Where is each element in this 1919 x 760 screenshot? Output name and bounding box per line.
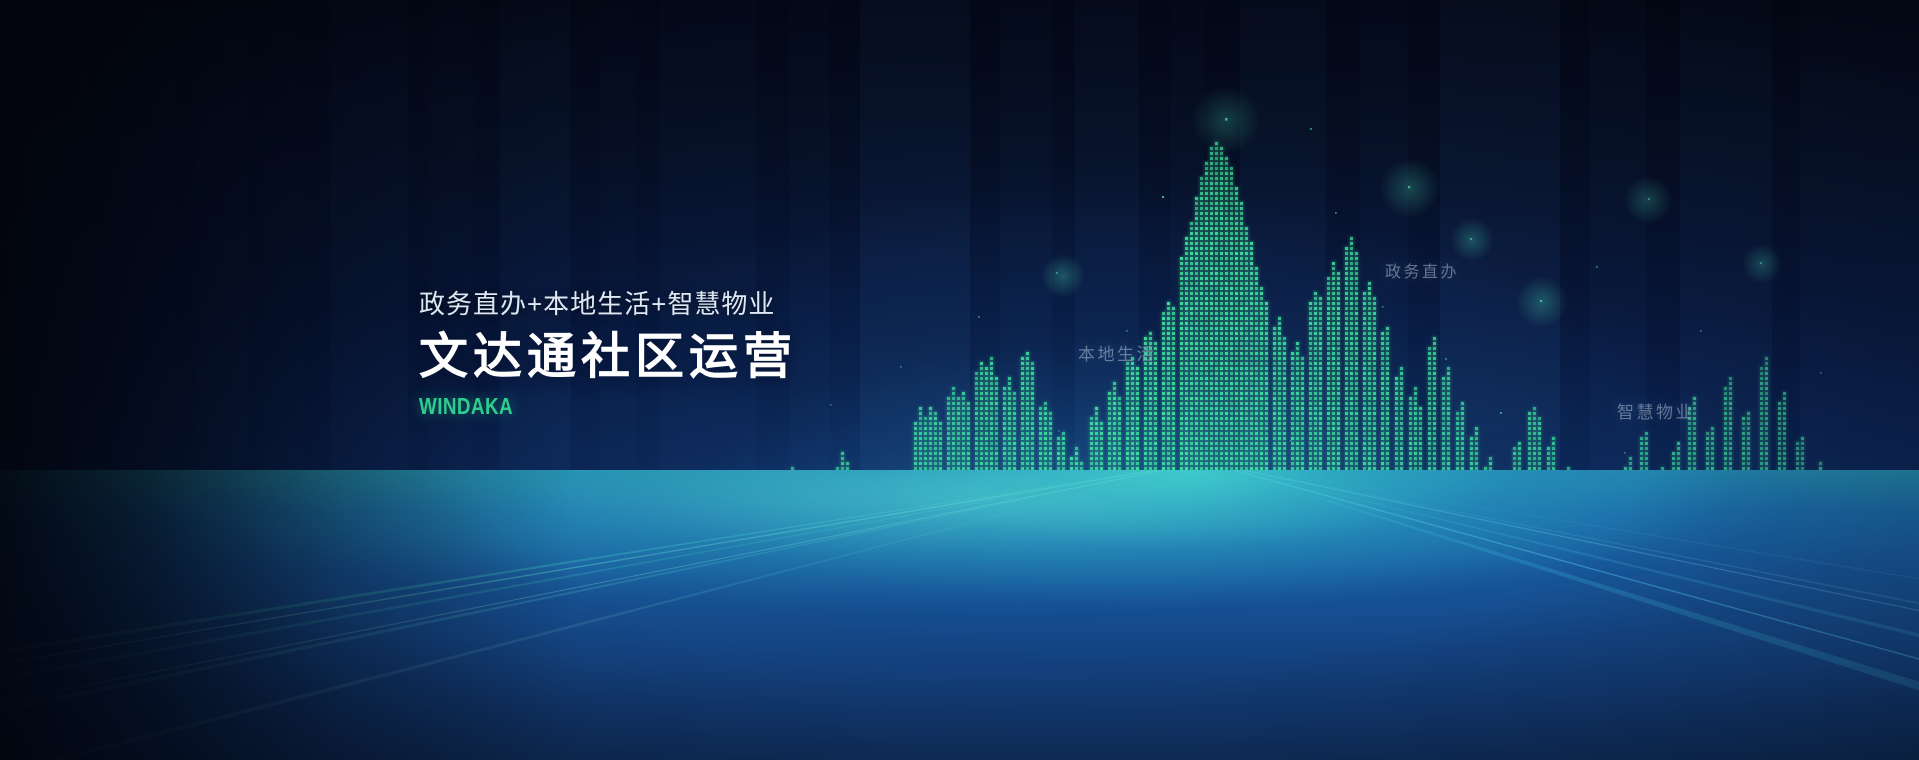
headline-block: 政务直办+本地生活+智慧物业 文达通社区运营 WINDAKA	[419, 289, 1039, 420]
banner-subtitle: 政务直办+本地生活+智慧物业	[419, 289, 1039, 320]
banner-stage: 本地生活政务直办智慧物业 政务直办+本地生活+智慧物业 文达通社区运营 WIND…	[0, 0, 1919, 760]
brand-wordmark: WINDAKA	[419, 393, 927, 420]
banner-headline: 文达通社区运营	[419, 330, 1039, 385]
